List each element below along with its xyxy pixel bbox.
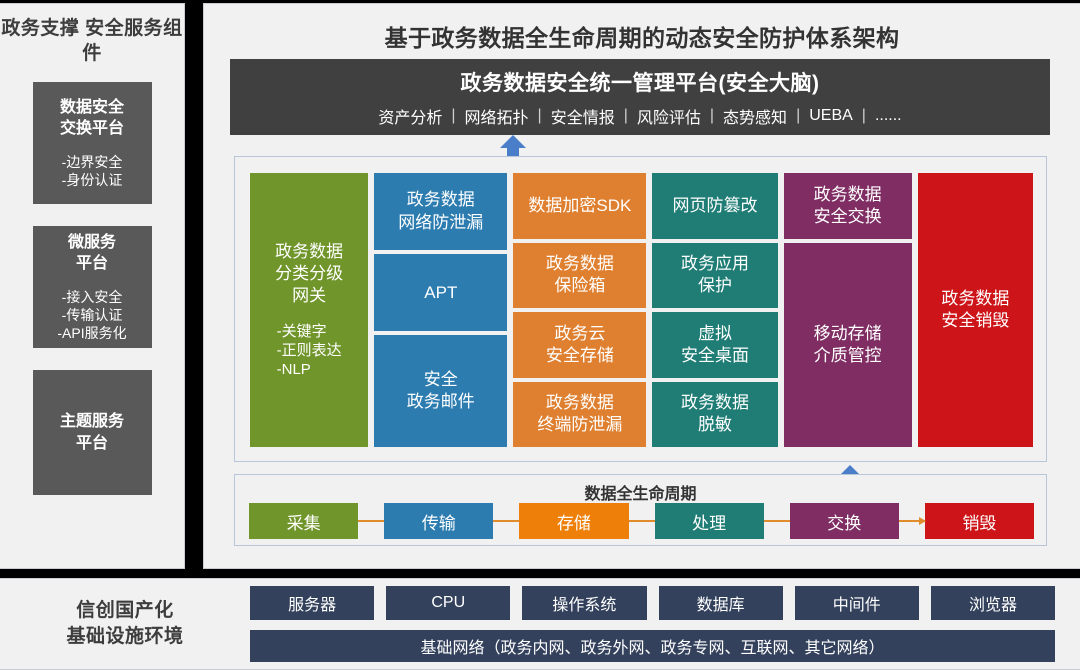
sidebar-panel: 政务支撑 安全服务组件 数据安全 交换平台-边界安全 -身份认证微服务 平台-接… bbox=[0, 3, 185, 569]
security-brain-module[interactable]: ...... bbox=[875, 107, 902, 125]
lifecycle-stage[interactable]: 处理 bbox=[655, 503, 764, 539]
capability-cell[interactable]: 网页防篡改 bbox=[652, 173, 777, 239]
capability-cell-title: 网页防篡改 bbox=[672, 195, 757, 217]
top-area: 政务支撑 安全服务组件 数据安全 交换平台-边界安全 -身份认证微服务 平台-接… bbox=[0, 0, 1080, 572]
capability-column-storage: 数据加密SDK政务数据 保险箱政务云 安全存储政务数据 终端防泄漏 bbox=[513, 173, 646, 447]
lifecycle-connector bbox=[764, 520, 790, 522]
main-panel: 基于政务数据全生命周期的动态安全防护体系架构 政务数据安全统一管理平台(安全大脑… bbox=[203, 3, 1080, 569]
capability-cell[interactable]: 安全 政务邮件 bbox=[374, 335, 507, 447]
capability-cell[interactable]: 政务数据 安全交换 bbox=[784, 173, 912, 239]
module-separator: | bbox=[787, 107, 809, 125]
diagram-root: 政务支撑 安全服务组件 数据安全 交换平台-边界安全 -身份认证微服务 平台-接… bbox=[0, 0, 1080, 670]
capability-cell[interactable]: 政务数据 安全销毁 bbox=[918, 173, 1033, 447]
capability-cell-title: 虚拟 安全桌面 bbox=[681, 323, 749, 367]
capability-column-destroy: 政务数据 安全销毁 bbox=[918, 173, 1033, 447]
capability-cell-title: APT bbox=[424, 282, 457, 304]
capability-cell[interactable]: 政务数据 网络防泄漏 bbox=[374, 173, 507, 250]
security-brain-title: 政务数据安全统一管理平台(安全大脑) bbox=[461, 67, 820, 97]
lifecycle-stage[interactable]: 传输 bbox=[384, 503, 493, 539]
sidebar-card[interactable]: 数据安全 交换平台-边界安全 -身份认证 bbox=[33, 82, 152, 204]
lifecycle-connector bbox=[493, 520, 519, 522]
capability-cell[interactable]: 政务应用 保护 bbox=[652, 243, 777, 309]
infrastructure-chip[interactable]: 操作系统 bbox=[522, 586, 646, 620]
security-brain-module[interactable]: 风险评估 bbox=[637, 104, 701, 128]
module-separator: | bbox=[853, 107, 875, 125]
security-brain-bar: 政务数据安全统一管理平台(安全大脑) 资产分析|网络拓扑|安全情报|风险评估|态… bbox=[230, 59, 1050, 135]
module-separator: | bbox=[442, 107, 464, 125]
security-brain-module[interactable]: 资产分析 bbox=[378, 104, 442, 128]
lifecycle-stage[interactable]: 销毁 bbox=[925, 503, 1034, 539]
module-separator: | bbox=[701, 107, 723, 125]
module-separator: | bbox=[615, 107, 637, 125]
capability-cell[interactable]: 政务云 安全存储 bbox=[513, 312, 646, 378]
sidebar-card-list: 数据安全 交换平台-边界安全 -身份认证微服务 平台-接入安全 -传输认证 -A… bbox=[0, 82, 184, 495]
sidebar-card-title: 数据安全 交换平台 bbox=[33, 97, 152, 140]
capability-cell[interactable]: 政务数据 保险箱 bbox=[513, 243, 646, 309]
infrastructure-chip[interactable]: 中间件 bbox=[795, 586, 919, 620]
capability-grid-frame: 政务数据 分类分级 网关-关键字 -正则表达 -NLP政务数据 网络防泄漏APT… bbox=[234, 156, 1047, 462]
capability-cell-title: 政务数据 安全销毁 bbox=[941, 288, 1009, 332]
capability-cell-title: 政务数据 脱敏 bbox=[681, 392, 749, 436]
capability-cell-title: 安全 政务邮件 bbox=[407, 369, 475, 413]
sidebar-title: 政务支撑 安全服务组件 bbox=[0, 16, 184, 66]
capability-cell-title: 政务云 安全存储 bbox=[546, 323, 614, 367]
sidebar-card[interactable]: 微服务 平台-接入安全 -传输认证 -API服务化 bbox=[33, 226, 152, 348]
infrastructure-chip[interactable]: 浏览器 bbox=[931, 586, 1055, 620]
capability-cell-title: 政务数据 终端防泄漏 bbox=[537, 392, 622, 436]
lifecycle-frame: 数据全生命周期 采集传输存储处理交换销毁 bbox=[234, 474, 1047, 546]
capability-cell[interactable]: APT bbox=[374, 254, 507, 331]
infrastructure-content: 服务器CPU操作系统数据库中间件浏览器 基础网络（政务内网、政务外网、政务专网、… bbox=[250, 586, 1080, 662]
lifecycle-stage-list: 采集传输存储处理交换销毁 bbox=[249, 503, 1034, 539]
capability-cell-title: 数据加密SDK bbox=[528, 195, 631, 217]
capability-cell-title: 政务数据 分类分级 网关 bbox=[275, 241, 343, 307]
capability-column-process: 网页防篡改政务应用 保护虚拟 安全桌面政务数据 脱敏 bbox=[652, 173, 777, 447]
capability-cell-title: 政务数据 安全交换 bbox=[814, 184, 882, 228]
capability-column-collect: 政务数据 分类分级 网关-关键字 -正则表达 -NLP bbox=[250, 173, 368, 447]
capability-cell[interactable]: 移动存储 介质管控 bbox=[784, 243, 912, 447]
sidebar-card-subtext: -接入安全 -传输认证 -API服务化 bbox=[33, 288, 152, 343]
security-brain-module[interactable]: 网络拓扑 bbox=[465, 104, 529, 128]
security-brain-module[interactable]: 态势感知 bbox=[723, 104, 787, 128]
lifecycle-title: 数据全生命周期 bbox=[235, 475, 1046, 504]
module-separator: | bbox=[529, 107, 551, 125]
capability-cell-title: 政务应用 保护 bbox=[681, 253, 749, 297]
infrastructure-chip[interactable]: CPU bbox=[386, 586, 510, 620]
sidebar-card-subtext: -边界安全 -身份认证 bbox=[33, 153, 152, 189]
page-title: 基于政务数据全生命周期的动态安全防护体系架构 bbox=[204, 4, 1080, 53]
capability-grid: 政务数据 分类分级 网关-关键字 -正则表达 -NLP政务数据 网络防泄漏APT… bbox=[250, 173, 1033, 447]
security-brain-module[interactable]: 安全情报 bbox=[551, 104, 615, 128]
security-brain-modules: 资产分析|网络拓扑|安全情报|风险评估|态势感知|UEBA|...... bbox=[378, 104, 901, 128]
lifecycle-stage[interactable]: 采集 bbox=[249, 503, 358, 539]
infrastructure-panel: 信创国产化 基础设施环境 服务器CPU操作系统数据库中间件浏览器 基础网络（政务… bbox=[0, 578, 1080, 670]
security-brain-module[interactable]: UEBA bbox=[809, 107, 853, 125]
infrastructure-chip-list: 服务器CPU操作系统数据库中间件浏览器 bbox=[250, 586, 1055, 620]
capability-cell[interactable]: 政务数据 终端防泄漏 bbox=[513, 382, 646, 448]
capability-column-transmit: 政务数据 网络防泄漏APT安全 政务邮件 bbox=[374, 173, 507, 447]
lifecycle-connector bbox=[629, 520, 655, 522]
capability-cell[interactable]: 政务数据 脱敏 bbox=[652, 382, 777, 448]
sidebar-card-title: 微服务 平台 bbox=[33, 232, 152, 275]
capability-cell[interactable]: 虚拟 安全桌面 bbox=[652, 312, 777, 378]
capability-cell-title: 政务数据 保险箱 bbox=[546, 253, 614, 297]
capability-column-exchange: 政务数据 安全交换移动存储 介质管控 bbox=[784, 173, 912, 447]
capability-cell-title: 移动存储 介质管控 bbox=[814, 323, 882, 367]
infrastructure-label: 信创国产化 基础设施环境 bbox=[0, 598, 250, 649]
capability-cell[interactable]: 数据加密SDK bbox=[513, 173, 646, 239]
capability-cell-title: 政务数据 网络防泄漏 bbox=[398, 189, 483, 233]
sidebar-card-title: 主题服务 平台 bbox=[33, 411, 152, 454]
capability-cell[interactable]: 政务数据 分类分级 网关-关键字 -正则表达 -NLP bbox=[250, 173, 368, 447]
lifecycle-arrow-icon bbox=[899, 520, 925, 522]
lifecycle-stage[interactable]: 交换 bbox=[790, 503, 899, 539]
lifecycle-connector bbox=[358, 520, 384, 522]
infrastructure-chip[interactable]: 数据库 bbox=[659, 586, 783, 620]
capability-cell-subtext: -关键字 -正则表达 -NLP bbox=[277, 322, 342, 380]
lifecycle-stage[interactable]: 存储 bbox=[519, 503, 628, 539]
base-network-bar: 基础网络（政务内网、政务外网、政务专网、互联网、其它网络） bbox=[250, 630, 1055, 662]
sidebar-card[interactable]: 主题服务 平台 bbox=[33, 370, 152, 495]
infrastructure-chip[interactable]: 服务器 bbox=[250, 586, 374, 620]
